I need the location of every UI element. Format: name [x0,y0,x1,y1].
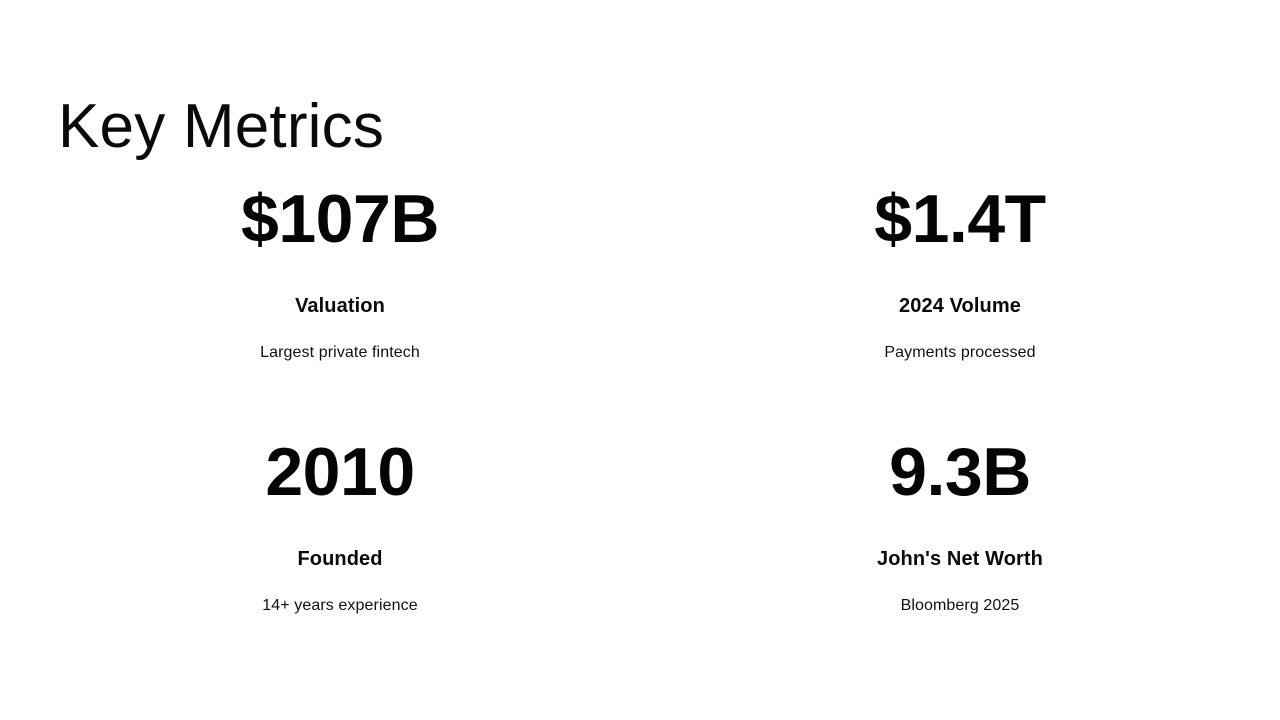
metric-sublabel: Payments processed [884,345,1035,361]
metric-label: Valuation [295,296,385,316]
metric-card-johns-net-worth: 9.3B John's Net Worth Bloomberg 2025 [640,438,1260,614]
metric-card-valuation: $107B Valuation Largest private fintech [20,185,640,361]
metric-label: Founded [297,549,382,569]
metric-sublabel: 14+ years experience [262,598,417,614]
metrics-grid: $107B Valuation Largest private fintech … [20,185,1260,691]
metric-value: $1.4T [874,185,1045,253]
metric-sublabel: Largest private fintech [260,345,420,361]
metric-sublabel: Bloomberg 2025 [901,598,1020,614]
page-title: Key Metrics [58,94,384,159]
metric-label: John's Net Worth [877,549,1043,569]
metric-card-2024-volume: $1.4T 2024 Volume Payments processed [640,185,1260,361]
metric-value: $107B [241,185,439,253]
slide-canvas: Key Metrics $107B Valuation Largest priv… [0,0,1280,720]
metric-value: 9.3B [889,438,1031,506]
metric-value: 2010 [265,438,414,506]
metric-label: 2024 Volume [899,296,1021,316]
metric-card-founded: 2010 Founded 14+ years experience [20,438,640,614]
